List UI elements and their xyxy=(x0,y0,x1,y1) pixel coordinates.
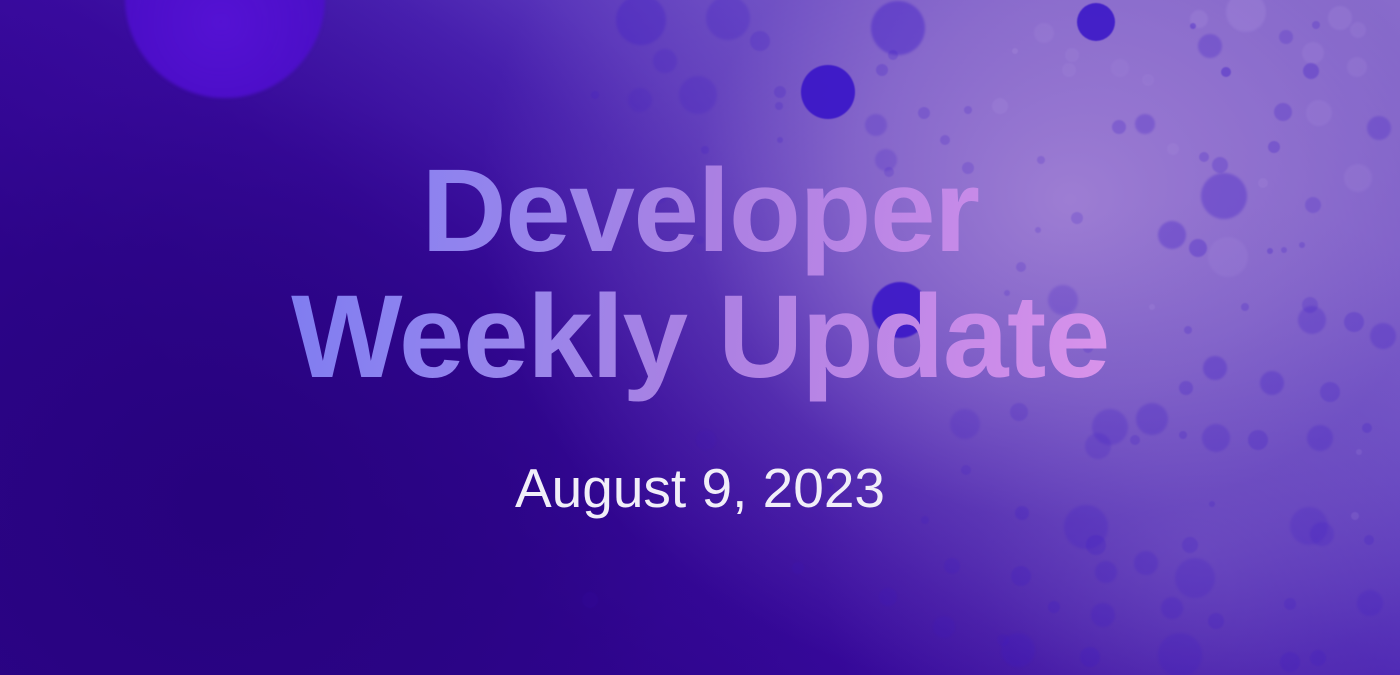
decorative-dot xyxy=(1350,22,1366,38)
decorative-dot xyxy=(1370,323,1396,349)
decorative-dot xyxy=(1310,522,1334,546)
decorative-dot xyxy=(1135,114,1155,134)
decorative-dot xyxy=(1305,197,1321,213)
decorative-dot xyxy=(1268,141,1280,153)
banner-date: August 9, 2023 xyxy=(515,458,885,518)
decorative-dot xyxy=(1198,34,1222,58)
decorative-dot xyxy=(1199,152,1209,162)
decorative-dot xyxy=(1112,120,1126,134)
decorative-dot xyxy=(1274,103,1292,121)
decorative-dot xyxy=(1212,157,1228,173)
decorative-dot xyxy=(1048,601,1060,613)
decorative-dot xyxy=(1226,0,1266,32)
decorative-dot xyxy=(1130,435,1140,445)
decorative-dot xyxy=(1179,381,1193,395)
decorative-dot xyxy=(1179,431,1187,439)
decorative-dot xyxy=(1011,566,1031,586)
decorative-dot xyxy=(921,516,929,524)
decorative-dot xyxy=(1362,423,1372,433)
decorative-dot xyxy=(1280,652,1300,672)
decorative-dot xyxy=(997,634,1009,646)
decorative-dot xyxy=(1085,433,1111,459)
decorative-dot xyxy=(1208,237,1248,277)
decorative-dot xyxy=(1258,178,1268,188)
decorative-dot xyxy=(1260,371,1284,395)
decorative-dot xyxy=(1184,326,1192,334)
decorative-dot xyxy=(1307,425,1333,451)
decorative-dot xyxy=(1267,248,1273,254)
decorative-dot xyxy=(1080,647,1100,667)
decorative-dot xyxy=(1091,603,1115,627)
decorative-dot xyxy=(792,562,804,574)
decorative-dot xyxy=(1344,164,1372,192)
decorative-dot xyxy=(879,588,897,606)
decorative-dot xyxy=(1356,449,1362,455)
page-title-line-2: Weekly Update xyxy=(291,272,1109,402)
decorative-dot xyxy=(1302,42,1324,64)
decorative-dot xyxy=(1086,535,1106,555)
decorative-dot xyxy=(1158,633,1202,675)
decorative-dot xyxy=(1306,100,1332,126)
decorative-dot xyxy=(1347,57,1367,77)
decorative-dot xyxy=(1209,501,1215,507)
decorative-dot xyxy=(1320,382,1340,402)
decorative-dot xyxy=(1279,30,1293,44)
decorative-dot xyxy=(1221,67,1231,77)
decorative-dot xyxy=(1208,613,1224,629)
decorative-dot xyxy=(1149,304,1155,310)
decorative-dot xyxy=(950,409,980,439)
decorative-dot xyxy=(1312,21,1320,29)
decorative-dot xyxy=(1095,561,1117,583)
decorative-dot xyxy=(1357,590,1383,616)
decorative-dot xyxy=(1201,173,1247,219)
page-title: DeveloperWeekly Update xyxy=(291,0,1109,402)
decorative-dot xyxy=(1190,23,1196,29)
decorative-dot xyxy=(1298,306,1326,334)
decorative-dot xyxy=(1281,247,1287,253)
decorative-dot xyxy=(1299,242,1305,248)
decorative-dot xyxy=(1303,63,1319,79)
decorative-dot xyxy=(1351,512,1359,520)
decorative-dot xyxy=(1189,239,1207,257)
decorative-dot xyxy=(1142,74,1154,86)
decorative-dot xyxy=(1175,558,1215,598)
decorative-dot xyxy=(1364,535,1374,545)
decorative-dot xyxy=(1203,356,1227,380)
decorative-dot xyxy=(1241,303,1249,311)
decorative-dot xyxy=(944,558,960,574)
decorative-dot xyxy=(1248,430,1268,450)
decorative-dot xyxy=(1010,403,1028,421)
decorative-dot xyxy=(696,430,716,450)
decorative-dot xyxy=(1328,6,1352,30)
decorative-dot xyxy=(1158,221,1186,249)
decorative-dot xyxy=(1202,424,1230,452)
decorative-dot xyxy=(1284,598,1296,610)
decorative-dot xyxy=(582,592,598,608)
page-title-line-1: Developer xyxy=(291,146,1109,276)
decorative-dot xyxy=(1134,551,1158,575)
decorative-dot xyxy=(1161,597,1183,619)
decorative-dot xyxy=(1136,403,1168,435)
decorative-dot xyxy=(961,465,971,475)
decorative-dot xyxy=(1111,59,1129,77)
decorative-dot xyxy=(1344,312,1364,332)
decorative-dot xyxy=(1167,143,1179,155)
decorative-dot xyxy=(1367,116,1391,140)
developer-weekly-update-banner: DeveloperWeekly Update August 9, 2023 xyxy=(0,0,1400,675)
decorative-dot xyxy=(1015,506,1029,520)
decorative-dot xyxy=(933,616,955,638)
decorative-dot xyxy=(1310,650,1326,666)
decorative-dot xyxy=(1182,537,1198,553)
